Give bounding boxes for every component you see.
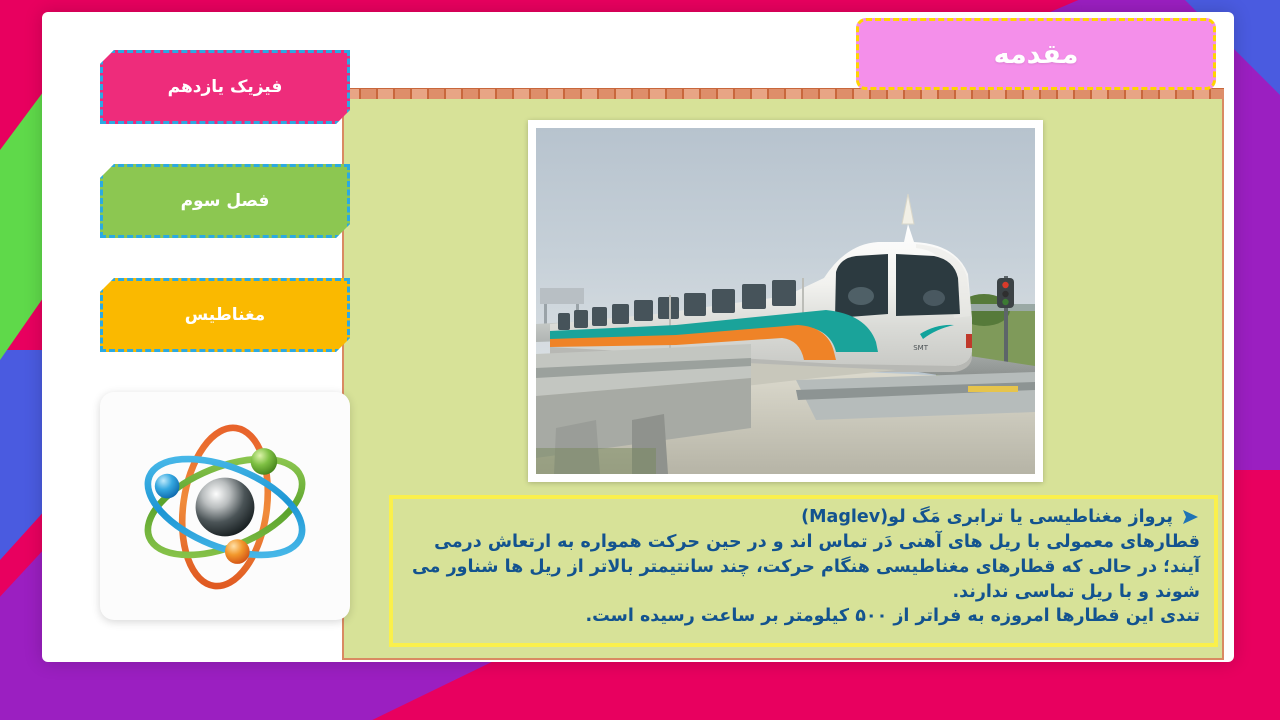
text-body-paragraph: قطارهای معمولی با ریل های آهنی دَر تماس … bbox=[403, 530, 1200, 605]
slide-title-chip: مقدمه bbox=[856, 18, 1216, 90]
arrow-bullet-icon bbox=[1180, 507, 1200, 527]
text-lead-label: پرواز مغناطیسی یا ترابری مَگ لو(Maglev) bbox=[801, 505, 1173, 530]
svg-text:SMT: SMT bbox=[913, 344, 928, 352]
sidebar-item-chapter-3[interactable]: فصل سوم bbox=[100, 164, 350, 238]
sidebar-item-magnetism[interactable]: مغناطیس bbox=[100, 278, 350, 352]
text-lead-line: پرواز مغناطیسی یا ترابری مَگ لو(Maglev) bbox=[403, 505, 1200, 530]
sidebar-item-physics-11[interactable]: فیزیک یازدهم bbox=[100, 50, 350, 124]
sidebar-logo-card bbox=[100, 392, 350, 620]
text-last-paragraph: تندی این قطارها امروزه به فراتر از ۵۰۰ ک… bbox=[403, 604, 1200, 629]
atom-electron-orange bbox=[225, 539, 250, 564]
description-text-box: پرواز مغناطیسی یا ترابری مَگ لو(Maglev) … bbox=[389, 495, 1218, 647]
atom-icon bbox=[130, 414, 320, 599]
page-title: مقدمه bbox=[994, 39, 1079, 70]
sidebar: فیزیک یازدهم فصل سوم مغناطیس bbox=[60, 50, 350, 650]
train-photo-frame: SMT bbox=[528, 120, 1043, 482]
maglev-train-photo: SMT bbox=[536, 128, 1035, 474]
atom-electron-blue bbox=[155, 473, 180, 498]
sidebar-item-label: فصل سوم bbox=[181, 191, 270, 211]
sidebar-item-label: مغناطیس bbox=[185, 305, 265, 325]
slide-root: مقدمه فیزیک یازدهم فصل سوم مغناطیس bbox=[0, 0, 1280, 720]
atom-nucleus bbox=[196, 477, 255, 536]
sidebar-item-label: فیزیک یازدهم bbox=[168, 77, 283, 97]
atom-electron-green bbox=[251, 448, 278, 475]
